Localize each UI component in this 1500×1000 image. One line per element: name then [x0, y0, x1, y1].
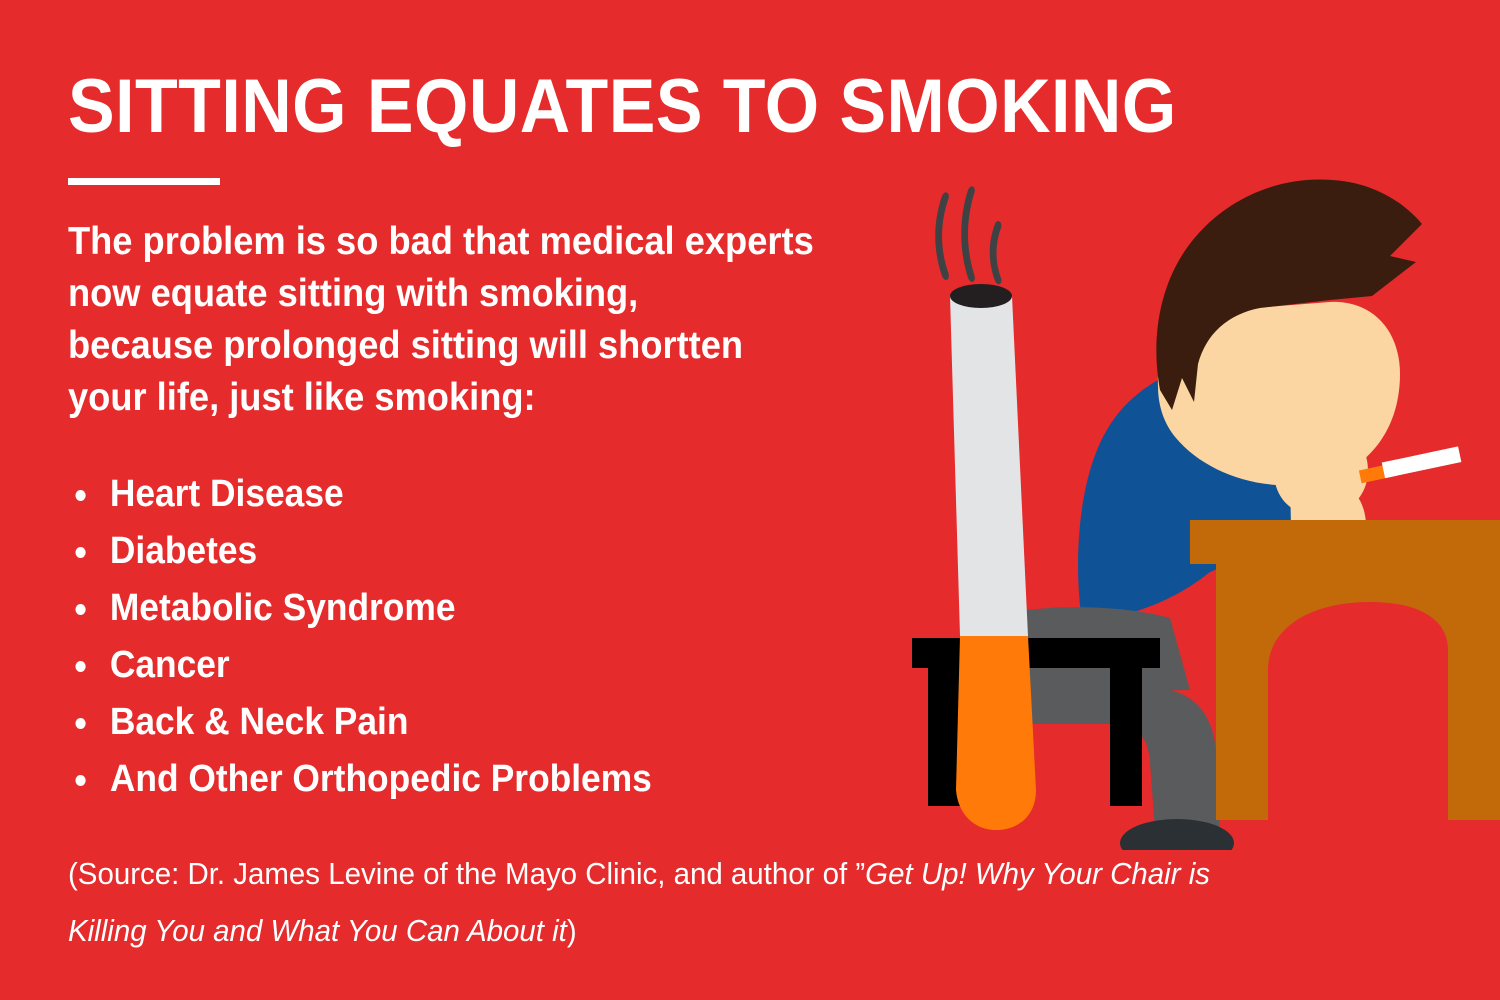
lede-paragraph: The problem is so bad that medical exper…	[68, 216, 886, 424]
list-item: Cancer	[68, 637, 652, 694]
risk-list: Heart Disease Diabetes Metabolic Syndrom…	[68, 466, 696, 808]
cigarette-paper-small	[1382, 446, 1462, 478]
cigarette-filter	[956, 636, 1036, 830]
list-item-label: Heart Disease	[110, 473, 344, 515]
desk-legs-and-apron	[1216, 564, 1500, 820]
source-prefix: (Source: Dr. James Levine of the Mayo Cl…	[68, 856, 865, 891]
bullet-dot-icon	[75, 547, 85, 558]
list-item: Metabolic Syndrome	[68, 580, 652, 637]
bullet-dot-icon	[75, 490, 85, 501]
bullet-dot-icon	[75, 718, 85, 729]
desk-top	[1190, 520, 1500, 564]
stool-leg-right	[1110, 668, 1142, 806]
list-item: And Other Orthopedic Problems	[68, 751, 652, 808]
list-item-label: Diabetes	[110, 530, 257, 572]
lede-line: because prolonged sitting will shortten	[68, 320, 886, 372]
list-item-label: Cancer	[110, 644, 230, 686]
source-citation: (Source: Dr. James Levine of the Mayo Cl…	[68, 845, 1256, 959]
small-cigarette	[1358, 446, 1461, 483]
stool-leg-left	[928, 668, 960, 806]
chin	[1274, 425, 1368, 516]
list-item-label: And Other Orthopedic Problems	[110, 758, 652, 800]
page-title: SITTING EQUATES TO SMOKING	[68, 68, 1177, 146]
desk	[1190, 520, 1500, 820]
list-item: Diabetes	[68, 523, 652, 580]
infographic-poster: SITTING EQUATES TO SMOKING The problem i…	[0, 0, 1500, 1000]
smoke-wisps-icon	[935, 186, 1001, 284]
title-underline-rule	[68, 178, 220, 185]
bullet-dot-icon	[75, 604, 85, 615]
lede-line: The problem is so bad that medical exper…	[68, 216, 886, 268]
giant-cigarette	[950, 284, 1036, 830]
lede-line: now equate sitting with smoking,	[68, 268, 886, 320]
cigarette-paper	[950, 296, 1028, 636]
bullet-dot-icon	[75, 661, 85, 672]
bullet-dot-icon	[75, 775, 85, 786]
cigarette-lit-end	[950, 284, 1012, 308]
text-column: SITTING EQUATES TO SMOKING The problem i…	[68, 0, 968, 1000]
list-item: Back & Neck Pain	[68, 694, 652, 751]
stool-seat	[912, 638, 1160, 668]
list-item-label: Metabolic Syndrome	[110, 587, 456, 629]
list-item: Heart Disease	[68, 466, 652, 523]
list-item-label: Back & Neck Pain	[110, 701, 409, 743]
lede-line: your life, just like smoking:	[68, 372, 886, 424]
illustration-man-at-desk	[860, 150, 1500, 850]
source-suffix: )	[567, 913, 577, 948]
